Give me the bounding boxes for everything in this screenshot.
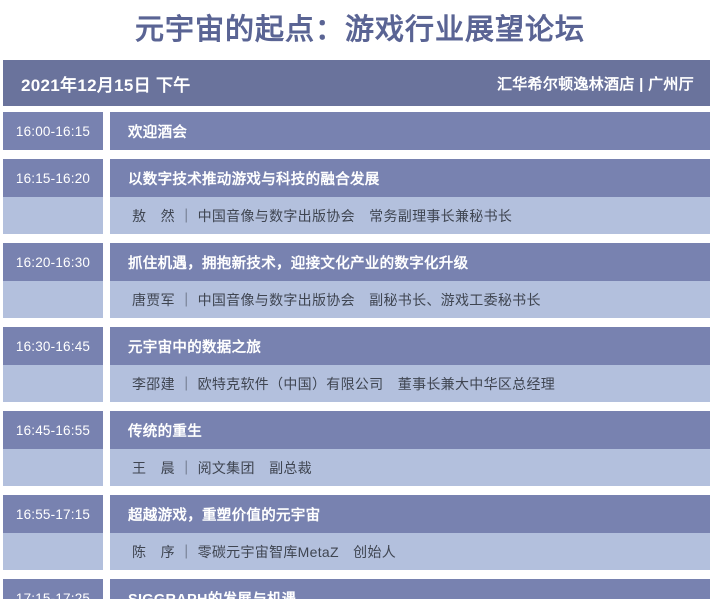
header-date: 2021年12月15日 下午	[21, 71, 191, 96]
session-time-label: 16:00-16:15	[3, 112, 103, 150]
session-time-filler	[3, 449, 103, 486]
session-row: 16:30-16:45元宇宙中的数据之旅李邵建 ｜ 欧特克软件（中国）有限公司 …	[0, 327, 720, 402]
session-content: 以数字技术推动游戏与科技的融合发展敖 然 ｜ 中国音像与数字出版协会 常务副理事…	[110, 159, 710, 234]
session-time-cell: 16:55-17:15	[3, 495, 103, 570]
session-title: SIGGRAPH的发展与机遇	[110, 579, 710, 599]
session-time-filler	[3, 365, 103, 402]
session-time-cell: 16:30-16:45	[3, 327, 103, 402]
session-content: 欢迎酒会	[110, 112, 710, 150]
session-time-cell: 16:15-16:20	[3, 159, 103, 234]
session-time-label: 16:45-16:55	[3, 411, 103, 449]
page-title: 元宇宙的起点：游戏行业展望论坛	[0, 8, 720, 52]
session-time-cell: 16:20-16:30	[3, 243, 103, 318]
session-row: 16:55-17:15超越游戏，重塑价值的元宇宙陈 序 ｜ 零碳元宇宙智库Met…	[0, 495, 720, 570]
header-venue: 汇华希尔顿逸林酒店 | 广州厅	[497, 73, 694, 94]
session-title: 超越游戏，重塑价值的元宇宙	[110, 495, 710, 533]
session-content: 超越游戏，重塑价值的元宇宙陈 序 ｜ 零碳元宇宙智库MetaZ 创始人	[110, 495, 710, 570]
session-speaker: 李邵建 ｜ 欧特克软件（中国）有限公司 董事长兼大中华区总经理	[110, 365, 710, 402]
session-content: SIGGRAPH的发展与机遇叶维中 ｜ 上海 ACM SIGGRAPH 学会 主…	[110, 579, 710, 599]
session-time-label: 17:15-17:25	[3, 579, 103, 599]
session-time-filler	[3, 533, 103, 570]
session-row: 17:15-17:25SIGGRAPH的发展与机遇叶维中 ｜ 上海 ACM SI…	[0, 579, 720, 599]
session-time-cell: 16:00-16:15	[3, 112, 103, 150]
session-title: 传统的重生	[110, 411, 710, 449]
session-speaker: 敖 然 ｜ 中国音像与数字出版协会 常务副理事长兼秘书长	[110, 197, 710, 234]
session-time-label: 16:15-16:20	[3, 159, 103, 197]
session-title: 元宇宙中的数据之旅	[110, 327, 710, 365]
session-content: 元宇宙中的数据之旅李邵建 ｜ 欧特克软件（中国）有限公司 董事长兼大中华区总经理	[110, 327, 710, 402]
session-content: 传统的重生王 晨 ｜ 阅文集团 副总裁	[110, 411, 710, 486]
session-content: 抓住机遇，拥抱新技术，迎接文化产业的数字化升级唐贾军 ｜ 中国音像与数字出版协会…	[110, 243, 710, 318]
session-speaker: 唐贾军 ｜ 中国音像与数字出版协会 副秘书长、游戏工委秘书长	[110, 281, 710, 318]
session-schedule-list: 16:00-16:15欢迎酒会16:15-16:20以数字技术推动游戏与科技的融…	[0, 112, 720, 599]
forum-agenda-page: 元宇宙的起点：游戏行业展望论坛 2021年12月15日 下午 汇华希尔顿逸林酒店…	[0, 0, 720, 599]
session-row: 16:45-16:55传统的重生王 晨 ｜ 阅文集团 副总裁	[0, 411, 720, 486]
session-title: 以数字技术推动游戏与科技的融合发展	[110, 159, 710, 197]
session-row: 16:15-16:20以数字技术推动游戏与科技的融合发展敖 然 ｜ 中国音像与数…	[0, 159, 720, 234]
session-time-filler	[3, 281, 103, 318]
session-row: 16:00-16:15欢迎酒会	[0, 112, 720, 150]
session-title: 抓住机遇，拥抱新技术，迎接文化产业的数字化升级	[110, 243, 710, 281]
session-row: 16:20-16:30抓住机遇，拥抱新技术，迎接文化产业的数字化升级唐贾军 ｜ …	[0, 243, 720, 318]
session-time-label: 16:20-16:30	[3, 243, 103, 281]
session-time-label: 16:30-16:45	[3, 327, 103, 365]
session-title: 欢迎酒会	[110, 112, 710, 150]
session-time-label: 16:55-17:15	[3, 495, 103, 533]
session-speaker: 陈 序 ｜ 零碳元宇宙智库MetaZ 创始人	[110, 533, 710, 570]
session-time-filler	[3, 197, 103, 234]
session-speaker: 王 晨 ｜ 阅文集团 副总裁	[110, 449, 710, 486]
session-time-cell: 17:15-17:25	[3, 579, 103, 599]
agenda-header-bar: 2021年12月15日 下午 汇华希尔顿逸林酒店 | 广州厅	[3, 60, 710, 106]
session-time-cell: 16:45-16:55	[3, 411, 103, 486]
